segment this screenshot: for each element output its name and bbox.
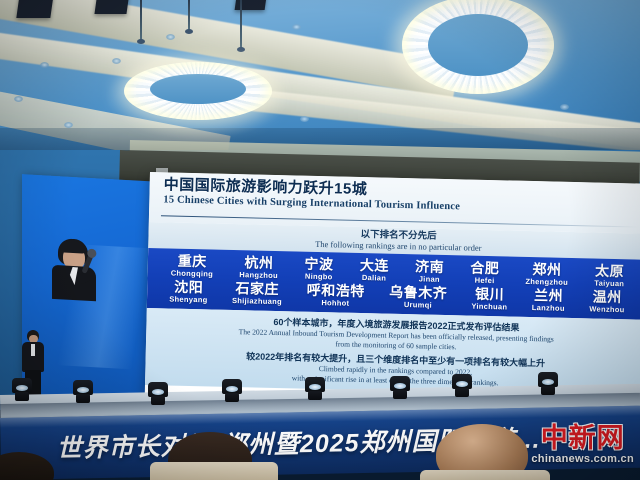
city-name-cn: 乌鲁木齐 [389, 284, 447, 299]
city-item: 银川 Yinchuan [471, 286, 507, 310]
city-name-en: Shenyang [169, 295, 207, 303]
stage-moving-light [73, 380, 93, 404]
city-item: 济南 Jinan [415, 259, 445, 283]
audience-chair [150, 462, 278, 480]
city-name-cn: 合肥 [470, 261, 499, 276]
stage-moving-light [538, 372, 558, 396]
ceiling-downlight [40, 62, 49, 68]
city-item: 大连 Dalian [359, 258, 389, 282]
city-item: 郑州 Zhengzhou [525, 262, 568, 286]
presentation-slide: 中国国际旅游影响力跃升15城 15 Chinese Cities with Su… [145, 172, 640, 409]
city-name-en: Taiyuan [594, 280, 624, 288]
city-name-cn: 杭州 [239, 255, 278, 270]
ceiling-downlight [300, 116, 309, 122]
city-name-en: Shijiazhuang [232, 296, 282, 305]
stage-moving-light [305, 377, 325, 401]
city-item: 杭州 Hangzhou [239, 255, 278, 279]
city-item: 呼和浩特 Hohhot [306, 282, 365, 307]
city-name-cn: 郑州 [526, 262, 569, 277]
city-name-en: Wenzhou [589, 305, 624, 313]
city-name-cn: 沈阳 [169, 279, 208, 294]
ceiling-downlight [14, 96, 23, 102]
watermark: 中新网 chinanews.com.cn [531, 424, 634, 465]
city-name-en: Hefei [470, 277, 499, 285]
city-name-en: Chongqing [171, 270, 213, 278]
chandelier-left [118, 0, 268, 130]
city-item: 宁波 Ningbo [304, 257, 334, 281]
audience-chair [420, 470, 550, 480]
city-name-en: Ningbo [304, 273, 333, 281]
chandelier-right [392, 0, 562, 110]
city-name-cn: 宁波 [304, 257, 333, 272]
photo-scene: 中国国际旅游影响力跃升15城 15 Chinese Cities with Su… [0, 0, 640, 480]
city-name-cn: 银川 [472, 286, 508, 301]
chandelier-ring [402, 0, 554, 94]
city-name-cn: 兰州 [532, 288, 565, 303]
city-name-cn: 济南 [415, 259, 444, 274]
city-name-en: Urumqi [389, 300, 447, 309]
stage-moving-light [12, 378, 32, 402]
city-item: 乌鲁木齐 Urumqi [389, 284, 448, 309]
city-item: 沈阳 Shenyang [169, 279, 208, 303]
city-name-cn: 温州 [589, 289, 625, 304]
stage-moving-light [452, 374, 472, 398]
city-name-en: Zhengzhou [525, 278, 568, 287]
city-item: 石家庄 Shijiazhuang [232, 280, 282, 305]
stage-moving-light [390, 376, 410, 400]
city-name-cn: 重庆 [171, 254, 214, 269]
city-item: 兰州 Lanzhou [532, 288, 565, 312]
city-name-en: Dalian [359, 274, 388, 282]
city-name-en: Hangzhou [239, 271, 278, 279]
city-name-en: Hohhot [306, 298, 364, 307]
city-item: 合肥 Hefei [470, 261, 500, 285]
city-item: 太原 Taiyuan [594, 264, 624, 288]
city-name-en: Yinchuan [471, 302, 507, 310]
city-name-cn: 呼和浩特 [307, 282, 365, 297]
watermark-logo-cn: 中新网 [531, 424, 634, 452]
watermark-site-url: chinanews.com.cn [531, 453, 634, 465]
ceiling-speaker [16, 0, 53, 18]
stage-moving-light [148, 382, 168, 406]
ceiling-downlight [292, 24, 301, 30]
chandelier-ring [124, 62, 272, 120]
city-name-cn: 太原 [594, 264, 624, 279]
city-name-cn: 石家庄 [232, 280, 282, 295]
city-name-en: Jinan [415, 275, 444, 283]
city-name-cn: 大连 [360, 258, 389, 273]
city-item: 重庆 Chongqing [171, 254, 214, 278]
city-name-en: Lanzhou [532, 304, 565, 312]
city-item: 温州 Wenzhou [589, 289, 625, 313]
speaker-video-feed [50, 238, 112, 301]
stage-moving-light [222, 379, 242, 403]
